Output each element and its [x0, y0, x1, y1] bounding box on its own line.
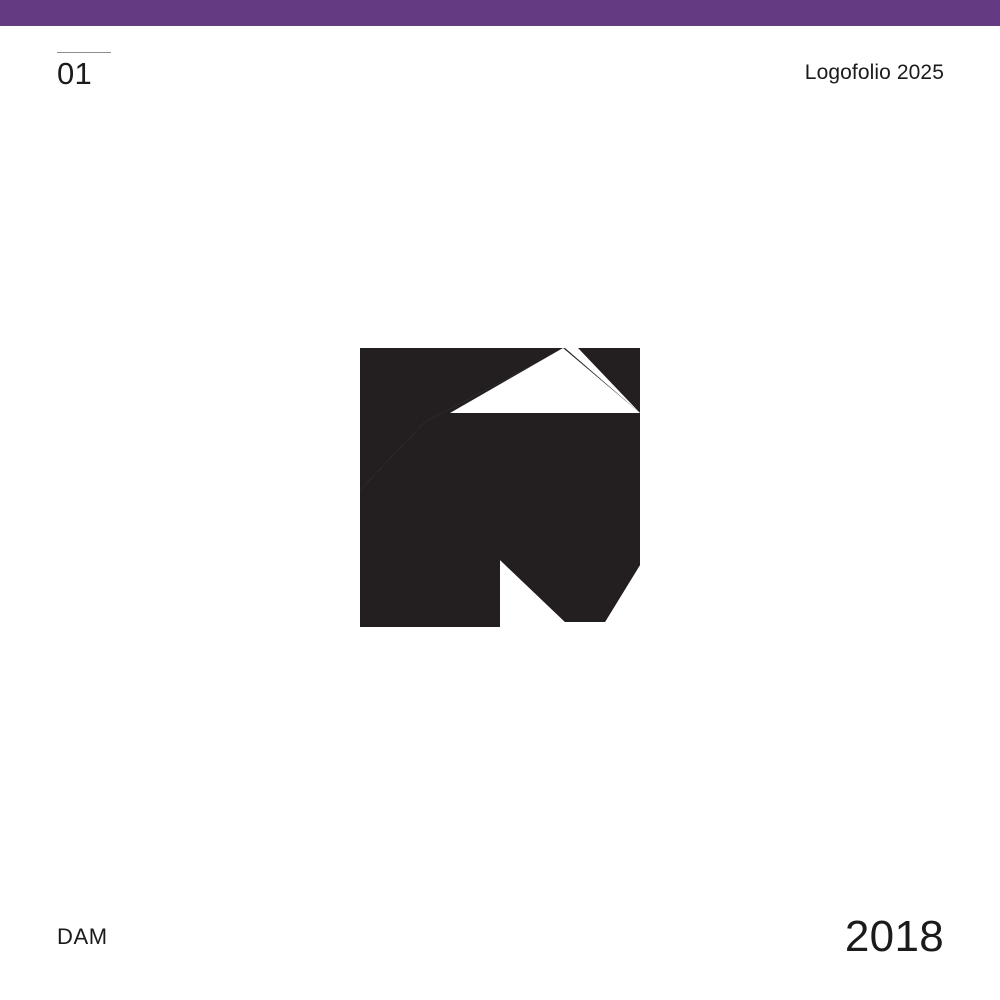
top-accent-bar [0, 0, 1000, 26]
index-number: 01 [57, 57, 177, 91]
index-rule [57, 52, 111, 53]
page-index: 01 [57, 52, 177, 91]
logofolio-page: 01 Logofolio 2025 DAM 2018 [0, 0, 1000, 1000]
footer-brand-name: DAM [57, 924, 108, 950]
footer-year: 2018 [845, 912, 944, 962]
logo-stage [0, 110, 1000, 870]
page-title: Logofolio 2025 [805, 61, 944, 85]
dam-logo-mark [350, 340, 650, 640]
page-header: 01 Logofolio 2025 [0, 26, 1000, 106]
